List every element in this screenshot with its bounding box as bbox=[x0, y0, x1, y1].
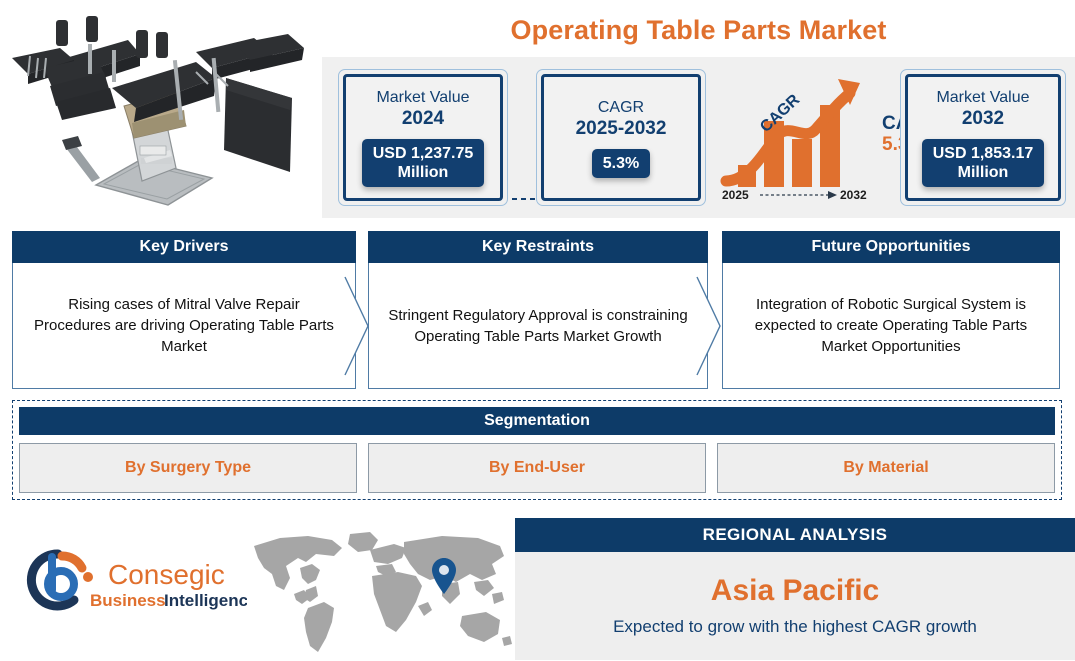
logo-orange-arc bbox=[62, 556, 82, 568]
logo-b-bowl bbox=[48, 571, 74, 597]
infographic-root: Operating Table Parts Market Market Valu… bbox=[0, 0, 1075, 660]
segmentation-tile-label: By End-User bbox=[489, 459, 585, 477]
segmentation-tile-label: By Surgery Type bbox=[125, 459, 251, 477]
regional-analysis-subtitle: Expected to grow with the highest CAGR g… bbox=[613, 615, 977, 639]
segmentation-tile-end-user[interactable]: By End-User bbox=[368, 443, 706, 493]
world-map-svg bbox=[246, 528, 516, 656]
regional-analysis-card: REGIONAL ANALYSIS Asia Pacific Expected … bbox=[515, 518, 1075, 660]
panel-future-opportunities: Future Opportunities Integration of Robo… bbox=[722, 231, 1060, 389]
stat-year: 2032 bbox=[962, 107, 1004, 130]
map-landmasses bbox=[254, 532, 512, 652]
panel-heading: Key Restraints bbox=[368, 231, 708, 263]
stat-value-line1: 5.3% bbox=[603, 154, 639, 173]
operating-table-illustration bbox=[0, 0, 320, 225]
segmentation-tile-label: By Material bbox=[843, 459, 928, 477]
product-image bbox=[0, 0, 320, 225]
panel-text: Rising cases of Mitral Valve Repair Proc… bbox=[12, 263, 356, 389]
stat-value-line1: USD 1,853.17 bbox=[933, 144, 1034, 163]
logo-orange-dot bbox=[83, 572, 93, 582]
chart-end-year: 2032 bbox=[840, 188, 867, 202]
stat-label: CAGR bbox=[598, 98, 644, 118]
stats-band: Market Value 2024 USD 1,237.75 Million C… bbox=[322, 57, 1075, 218]
logo-svg: Consegic Business Intelligence bbox=[12, 544, 247, 616]
stat-value-pill: USD 1,853.17 Million bbox=[922, 139, 1045, 187]
panel-heading: Future Opportunities bbox=[722, 231, 1060, 263]
stat-label: Market Value bbox=[936, 88, 1029, 108]
stat-value-line2: Million bbox=[933, 163, 1034, 182]
chart-start-year: 2025 bbox=[722, 188, 749, 202]
regional-analysis-heading: REGIONAL ANALYSIS bbox=[515, 518, 1075, 552]
insight-panels: Key Drivers Rising cases of Mitral Valve… bbox=[0, 231, 1075, 391]
logo-tagline-intelligence: Intelligence bbox=[164, 591, 247, 610]
stat-label: Market Value bbox=[376, 88, 469, 108]
stat-year: 2025-2032 bbox=[576, 117, 667, 140]
regional-analysis-region: Asia Pacific bbox=[711, 573, 879, 609]
page-title: Operating Table Parts Market bbox=[322, 8, 1075, 52]
panel-text: Stringent Regulatory Approval is constra… bbox=[368, 263, 708, 389]
stat-value-pill: USD 1,237.75 Million bbox=[362, 139, 485, 187]
world-map bbox=[246, 528, 516, 656]
stat-card-market-value-2032: Market Value 2032 USD 1,853.17 Million bbox=[900, 69, 1066, 206]
panel-key-drivers: Key Drivers Rising cases of Mitral Valve… bbox=[12, 231, 356, 389]
panel-text: Integration of Robotic Surgical System i… bbox=[722, 263, 1060, 389]
stat-value-line2: Million bbox=[373, 163, 474, 182]
logo-tagline-business: Business bbox=[90, 591, 166, 610]
segmentation-heading: Segmentation bbox=[19, 407, 1055, 435]
segmentation-tile-surgery-type[interactable]: By Surgery Type bbox=[19, 443, 357, 493]
segmentation-tiles: By Surgery Type By End-User By Material bbox=[19, 443, 1055, 493]
cagr-growth-chart: CAGR 2025 2032 bbox=[720, 77, 900, 202]
stat-card-cagr: CAGR 2025-2032 5.3% bbox=[536, 69, 706, 206]
stat-value-pill: 5.3% bbox=[592, 149, 650, 178]
segmentation-section: Segmentation By Surgery Type By End-User… bbox=[12, 400, 1062, 500]
stat-value-line1: USD 1,237.75 bbox=[373, 144, 474, 163]
segmentation-tile-material[interactable]: By Material bbox=[717, 443, 1055, 493]
regional-analysis-body: Asia Pacific Expected to grow with the h… bbox=[515, 552, 1075, 660]
logo-wordmark: Consegic bbox=[108, 559, 225, 590]
panel-key-restraints: Key Restraints Stringent Regulatory Appr… bbox=[368, 231, 708, 389]
panel-heading: Key Drivers bbox=[12, 231, 356, 263]
stat-card-market-value-2024: Market Value 2024 USD 1,237.75 Million bbox=[338, 69, 508, 206]
stat-year: 2024 bbox=[402, 107, 444, 130]
consegic-logo: Consegic Business Intelligence bbox=[12, 544, 247, 616]
